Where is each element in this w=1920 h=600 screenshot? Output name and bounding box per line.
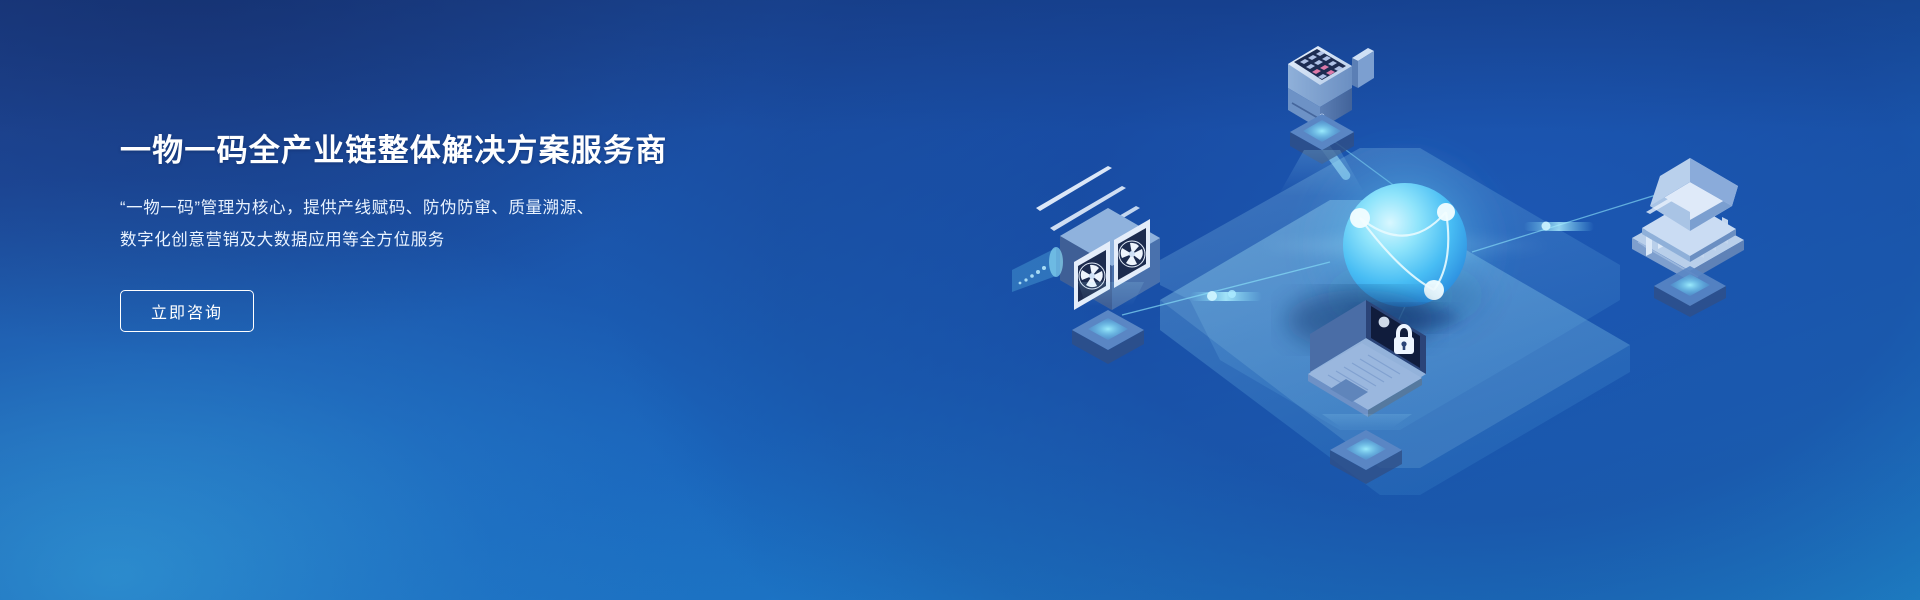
page-title: 一物一码全产业链整体解决方案服务商	[120, 132, 760, 170]
hero-subcopy: “一物一码”管理为核心，提供产线赋码、防伪防窜、质量溯源、 数字化创意营销及大数…	[120, 192, 760, 256]
subcopy-line-1: “一物一码”管理为核心，提供产线赋码、防伪防窜、质量溯源、	[120, 192, 760, 224]
bank-building-icon	[1632, 158, 1744, 281]
isometric-illustration	[860, 0, 1920, 600]
hero-copy: 一物一码全产业链整体解决方案服务商 “一物一码”管理为核心，提供产线赋码、防伪防…	[120, 132, 760, 332]
subcopy-line-2: 数字化创意营销及大数据应用等全方位服务	[120, 224, 760, 256]
fans-pedestal	[1072, 282, 1144, 364]
code-emitter	[1012, 247, 1063, 292]
hero-banner: 一物一码全产业链整体解决方案服务商 “一物一码”管理为核心，提供产线赋码、防伪防…	[0, 0, 1920, 600]
consult-now-button[interactable]: 立即咨询	[120, 290, 254, 332]
pos-terminal-icon	[1288, 46, 1374, 129]
bank-pedestal	[1654, 266, 1726, 317]
